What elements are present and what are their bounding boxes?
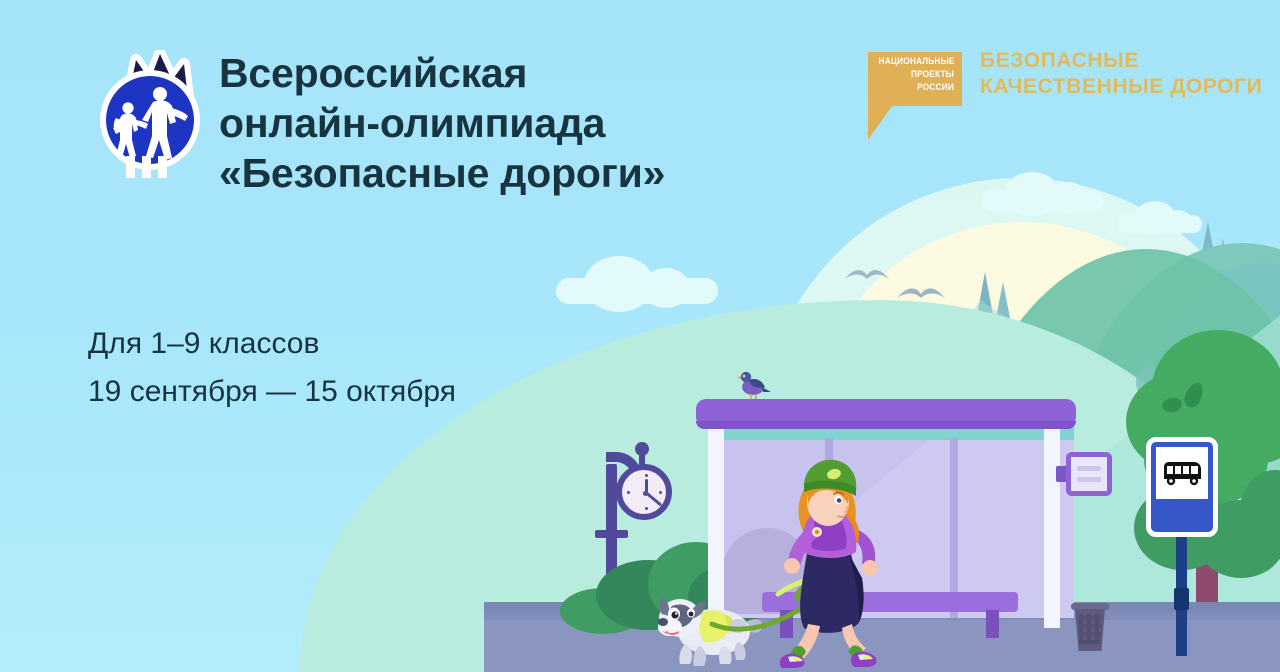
program-line-1: БЕЗОПАСНЫЕ (980, 48, 1262, 74)
flag-line-3: РОССИИ (879, 82, 954, 93)
cloud (1118, 215, 1202, 233)
trash-bin-lid (1071, 603, 1109, 610)
shelter-pillar (1044, 424, 1060, 628)
trash-bin-pattern (1079, 614, 1101, 644)
bench-leg (986, 610, 999, 638)
clock-minute-hand (646, 492, 662, 507)
shelter-roof-underside (696, 421, 1076, 429)
timetable-line (1077, 477, 1101, 482)
program-line-2: КАЧЕСТВЕННЫЕ ДОРОГИ (980, 74, 1262, 100)
timetable-line (1077, 466, 1101, 471)
timetable-panel[interactable] (1066, 452, 1112, 496)
audience-text: Для 1–9 классов (88, 320, 608, 368)
title-line-3: «Безопасные дороги» (219, 148, 839, 198)
shelter-mullion (950, 438, 958, 618)
national-projects-flag: НАЦИОНАЛЬНЫЕ ПРОЕКТЫ РОССИИ (866, 44, 966, 140)
bus-stop-sign[interactable] (1146, 437, 1218, 537)
bus-stop-sign-pole-collar (1174, 588, 1189, 610)
program-title: БЕЗОПАСНЫЕ КАЧЕСТВЕННЫЕ ДОРОГИ (980, 48, 1262, 100)
flag-line-1: НАЦИОНАЛЬНЫЕ (879, 56, 954, 67)
clock-face (616, 464, 672, 520)
poster-root: Всероссийская онлайн-олимпиада «Безопасн… (0, 0, 1280, 672)
page-title: Всероссийская онлайн-олимпиада «Безопасн… (219, 48, 839, 198)
bus-icon (1156, 447, 1208, 499)
pigeon-on-roof (735, 365, 773, 401)
girl-walking-dog (762, 452, 912, 672)
title-line-2: онлайн-олимпиада (219, 98, 839, 148)
olympiad-logo (96, 50, 208, 180)
cloud (556, 278, 718, 304)
flag-line-2: ПРОЕКТЫ (879, 69, 954, 80)
title-line-1: Всероссийская (219, 48, 839, 98)
event-details: Для 1–9 классов 19 сентября — 15 октября (88, 320, 608, 416)
dates-text: 19 сентября — 15 октября (88, 368, 608, 416)
flying-bird-icon (843, 265, 891, 285)
cloud (982, 190, 1104, 212)
bus-stop-sign-panel (1156, 447, 1208, 499)
